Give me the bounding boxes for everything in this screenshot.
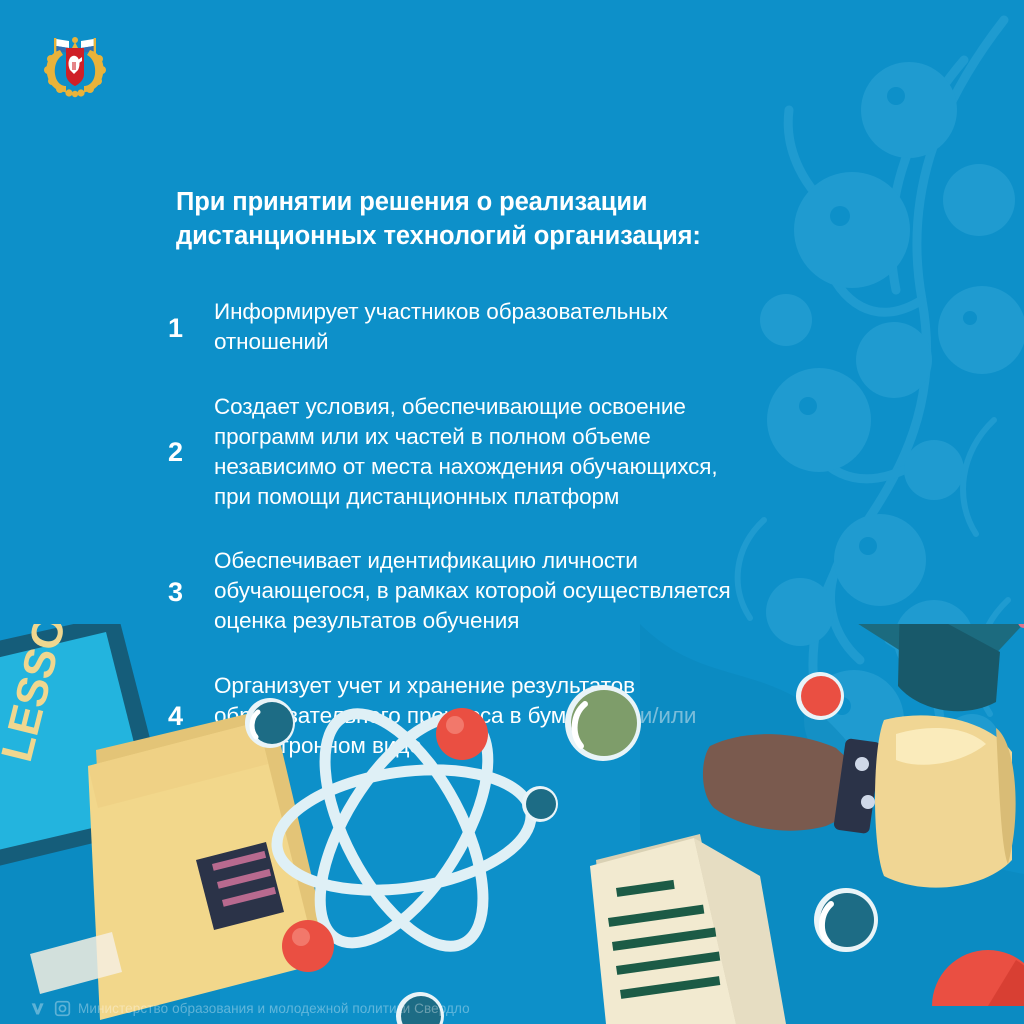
watermark: Министерство образования и молодежной по… <box>30 1000 470 1017</box>
red-disc-shape <box>932 950 1024 1006</box>
vk-icon <box>30 1000 47 1017</box>
list-item-text: Создает условия, обеспечивающие освоение… <box>214 392 718 513</box>
list-item: 4 Организует учет и хранение результатов… <box>168 671 888 761</box>
list-item-text: Информирует участников образовательных о… <box>214 297 668 357</box>
list-item-text: Обеспечивает идентификацию личности обуч… <box>214 546 731 636</box>
coat-of-arms-icon <box>36 26 114 100</box>
list-item-number: 2 <box>168 437 214 466</box>
list-item: 2 Создает условия, обеспечивающие освоен… <box>168 392 888 513</box>
page-title: При принятии решения о реализации дистан… <box>176 186 736 253</box>
watermark-text: Министерство образования и молодежной по… <box>78 1001 470 1016</box>
photo-frame-icon <box>54 1000 71 1017</box>
slide-canvas: При принятии решения о реализации дистан… <box>0 0 1024 1024</box>
list-item-number: 3 <box>168 577 214 606</box>
list-item: 3 Обеспечивает идентификацию личности об… <box>168 546 888 636</box>
list-item-text: Организует учет и хранение результатов о… <box>214 671 696 761</box>
list-item: 1 Информирует участников образовательных… <box>168 297 888 357</box>
numbered-requirements-list: 1 Информирует участников образовательных… <box>168 297 888 761</box>
tablet-illustration: LESSON <box>0 624 172 868</box>
content-block: При принятии решения о реализации дистан… <box>168 186 888 761</box>
open-book-illustration <box>590 834 786 1024</box>
list-item-number: 4 <box>168 701 214 730</box>
list-item-number: 1 <box>168 313 214 342</box>
svg-text:LESSON: LESSON <box>0 624 83 766</box>
